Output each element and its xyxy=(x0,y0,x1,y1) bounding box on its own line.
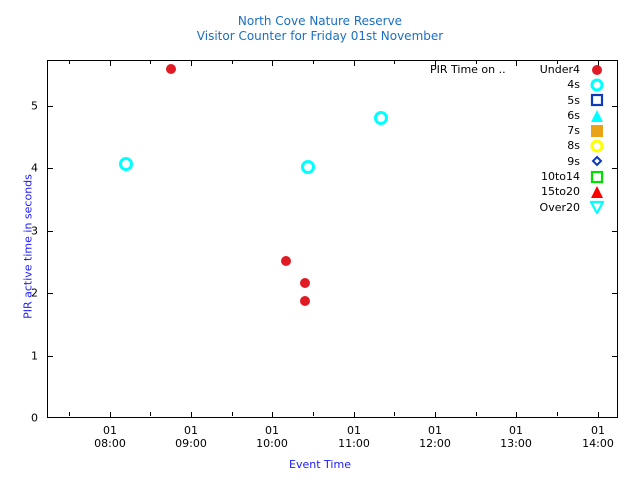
x-tick-time: 13:00 xyxy=(476,437,556,450)
x-tick-mark-top-minor xyxy=(69,60,70,64)
x-tick-label: 01 08:00 xyxy=(70,424,150,450)
legend-item-15to20[interactable]: 15to20 xyxy=(424,184,614,199)
y-tick-label: 1 xyxy=(8,350,38,363)
legend-label: 5s xyxy=(567,94,580,107)
data-point xyxy=(300,159,315,174)
x-tick-mark-top xyxy=(110,60,111,66)
x-tick-mark xyxy=(110,412,111,418)
x-tick-time: 12:00 xyxy=(395,437,475,450)
data-point xyxy=(374,111,389,126)
legend-item-4s[interactable]: 4s xyxy=(424,77,614,92)
x-tick-time: 14:00 xyxy=(558,437,638,450)
x-tick-label: 01 11:00 xyxy=(314,424,394,450)
x-tick-label: 01 10:00 xyxy=(232,424,312,450)
legend-marker-open-square-icon xyxy=(584,169,610,185)
x-tick-mark-minor xyxy=(313,412,314,416)
y-tick-mark xyxy=(47,106,53,107)
x-tick-time: 08:00 xyxy=(70,437,150,450)
legend-marker-filled-circle-icon xyxy=(584,62,610,78)
legend-item-6s[interactable]: 6s xyxy=(424,108,614,123)
x-tick-mark xyxy=(354,412,355,418)
x-tick-mark-minor xyxy=(557,412,558,416)
y-tick-label: 0 xyxy=(8,412,38,425)
x-tick-day: 01 xyxy=(558,424,638,437)
x-tick-mark-top-minor xyxy=(232,60,233,64)
legend-label: 9s xyxy=(567,155,580,168)
x-tick-time: 09:00 xyxy=(151,437,231,450)
data-point xyxy=(280,255,292,267)
y-tick-mark xyxy=(47,293,53,294)
x-tick-day: 01 xyxy=(70,424,150,437)
chart-title-block: North Cove Nature Reserve Visitor Counte… xyxy=(0,14,640,44)
legend-label: 15to20 xyxy=(541,185,580,198)
x-tick-day: 01 xyxy=(314,424,394,437)
x-tick-mark-minor xyxy=(394,412,395,416)
legend-label: 6s xyxy=(567,109,580,122)
x-tick-time: 11:00 xyxy=(314,437,394,450)
x-tick-mark-top xyxy=(191,60,192,66)
x-tick-mark xyxy=(598,412,599,418)
legend-label: 7s xyxy=(567,124,580,137)
x-tick-label: 01 09:00 xyxy=(151,424,231,450)
y-tick-label: 2 xyxy=(8,287,38,300)
legend-item-9s[interactable]: 9s xyxy=(424,154,614,169)
legend-label: 10to14 xyxy=(541,170,580,183)
legend-marker-open-triangle-down-icon xyxy=(584,199,610,215)
y-tick-label: 5 xyxy=(8,100,38,113)
x-axis-title: Event Time xyxy=(0,458,640,471)
legend-marker-filled-square-icon xyxy=(584,123,610,139)
x-tick-mark-top-minor xyxy=(394,60,395,64)
y-tick-mark xyxy=(612,293,618,294)
chart-title: North Cove Nature Reserve xyxy=(0,14,640,29)
legend-marker-open-square-icon xyxy=(584,92,610,108)
legend-label: Over20 xyxy=(540,201,580,214)
y-tick-mark xyxy=(47,168,53,169)
x-tick-label: 01 12:00 xyxy=(395,424,475,450)
x-tick-day: 01 xyxy=(232,424,312,437)
legend-marker-open-circle-icon xyxy=(584,77,610,93)
x-tick-time: 10:00 xyxy=(232,437,312,450)
legend-marker-open-diamond-icon xyxy=(584,153,610,169)
chart-legend: PIR Time on .. Under4 4s 5s 6s 7s 8s 9s xyxy=(424,62,614,215)
legend-item-5s[interactable]: 5s xyxy=(424,93,614,108)
legend-item-8s[interactable]: 8s xyxy=(424,138,614,153)
legend-marker-filled-triangle-up-icon xyxy=(584,184,610,200)
x-tick-mark-top-minor xyxy=(150,60,151,64)
y-tick-label: 4 xyxy=(8,162,38,175)
x-tick-mark-minor xyxy=(150,412,151,416)
x-tick-day: 01 xyxy=(476,424,556,437)
y-tick-mark xyxy=(47,356,53,357)
data-point xyxy=(299,277,311,289)
legend-marker-open-circle-icon xyxy=(584,138,610,154)
x-tick-mark-minor xyxy=(232,412,233,416)
y-axis-title: PIR active time in seconds xyxy=(22,157,35,337)
x-tick-day: 01 xyxy=(151,424,231,437)
scatter-chart: North Cove Nature Reserve Visitor Counte… xyxy=(0,0,640,480)
legend-marker-filled-triangle-up-icon xyxy=(584,108,610,124)
x-tick-label: 01 14:00 xyxy=(558,424,638,450)
data-point xyxy=(119,157,134,172)
x-tick-mark xyxy=(435,412,436,418)
legend-item-10to14[interactable]: 10to14 xyxy=(424,169,614,184)
legend-label: 8s xyxy=(567,139,580,152)
legend-item-under4[interactable]: Under4 xyxy=(424,62,614,77)
legend-label: Under4 xyxy=(540,63,580,76)
y-tick-label: 3 xyxy=(8,225,38,238)
legend-item-over20[interactable]: Over20 xyxy=(424,200,614,215)
x-tick-day: 01 xyxy=(395,424,475,437)
x-tick-mark-top xyxy=(354,60,355,66)
x-tick-mark-top xyxy=(272,60,273,66)
y-tick-mark xyxy=(47,231,53,232)
x-tick-mark xyxy=(272,412,273,418)
data-point xyxy=(299,295,311,307)
data-point xyxy=(165,63,177,75)
legend-item-7s[interactable]: 7s xyxy=(424,123,614,138)
y-tick-mark xyxy=(612,231,618,232)
legend-label: 4s xyxy=(567,78,580,91)
x-tick-label: 01 13:00 xyxy=(476,424,556,450)
x-tick-mark xyxy=(516,412,517,418)
x-tick-mark xyxy=(191,412,192,418)
x-tick-mark-minor xyxy=(476,412,477,416)
x-tick-mark-top-minor xyxy=(313,60,314,64)
chart-subtitle: Visitor Counter for Friday 01st November xyxy=(0,29,640,44)
x-tick-mark-minor xyxy=(69,412,70,416)
y-tick-mark xyxy=(612,356,618,357)
